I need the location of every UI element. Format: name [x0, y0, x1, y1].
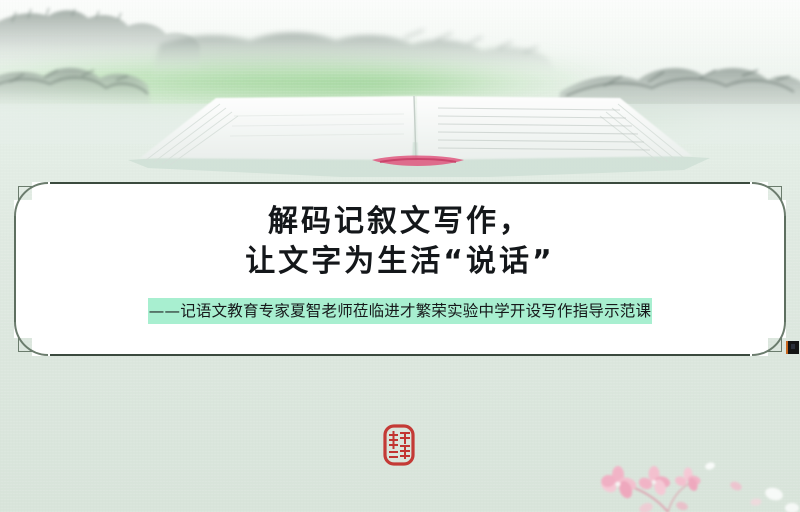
open-book-icon — [20, 72, 780, 177]
cherry-blossom-decoration-icon — [560, 420, 800, 512]
red-seal-stamp-icon — [383, 424, 415, 466]
image-artifact — [786, 341, 799, 354]
corner-ornament-bottom-right — [752, 322, 786, 356]
title-card: 解码记叙文写作， 让文字为生活“说话” ——记语文教育专家夏智老师莅临进才繁荣实… — [14, 182, 786, 356]
subtitle-text: ——记语文教育专家夏智老师莅临进才繁荣实验中学开设写作指导示范课 — [148, 298, 652, 324]
corner-tick-icon — [18, 186, 32, 200]
card-top-rule — [50, 182, 750, 184]
subtitle-container: ——记语文教育专家夏智老师莅临进才繁荣实验中学开设写作指导示范课 — [14, 298, 786, 324]
page-title: 解码记叙文写作， 让文字为生活“说话” — [14, 202, 786, 282]
title-line-2: 让文字为生活“说话” — [14, 242, 786, 282]
title-line-1: 解码记叙文写作， — [14, 202, 786, 242]
corner-tick-icon — [18, 338, 32, 352]
corner-tick-icon — [768, 186, 782, 200]
card-bottom-rule — [50, 354, 750, 356]
corner-tick-icon — [768, 338, 782, 352]
slide-canvas: 解码记叙文写作， 让文字为生活“说话” ——记语文教育专家夏智老师莅临进才繁荣实… — [0, 0, 800, 512]
corner-ornament-bottom-left — [14, 322, 48, 356]
